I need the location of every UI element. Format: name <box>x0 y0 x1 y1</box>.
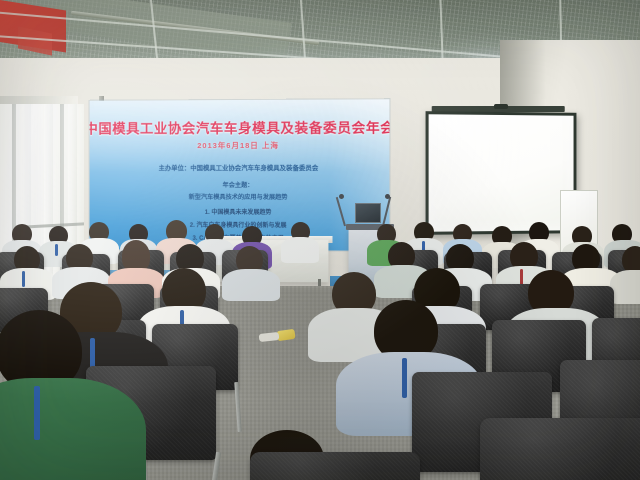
chair <box>250 452 420 480</box>
projection-screen-surface <box>429 114 574 231</box>
lanyard <box>22 271 25 287</box>
person-torso <box>222 269 280 301</box>
lanyard <box>34 386 40 440</box>
lanyard <box>55 244 58 256</box>
projection-screen-mount <box>494 104 508 109</box>
microphone-capsule <box>385 194 390 199</box>
banner-theme-label: 年会主题： <box>223 180 254 189</box>
conference-hall-photo: 中国模具工业协会汽车车身模具及装备委员会年会 2013年6月18日 上海 主办单… <box>0 0 640 480</box>
banner-theme-text: 新型汽车模具技术的应用与发展趋势 <box>189 192 288 201</box>
banner-date: 2013年6月18日 上海 <box>197 140 279 151</box>
person-torso <box>281 237 319 263</box>
person-torso <box>610 270 640 304</box>
microphone-capsule <box>339 194 344 199</box>
lanyard <box>402 358 407 398</box>
banner-agenda-item: 1. 中国模具未来发展趋势 <box>205 207 272 216</box>
banner-host-line: 主办单位：中国模具工业协会汽车车身模具及装备委员会 <box>159 163 319 172</box>
lectern-monitor <box>355 203 381 223</box>
banner-title: 中国模具工业协会汽车车身模具及装备委员会年会 <box>90 116 390 137</box>
chair <box>480 418 640 480</box>
projection-screen <box>426 111 577 235</box>
banner-agenda-item: 2. 汽车白车身模具行业的创新与发展 <box>190 220 287 229</box>
person-torso-green-polo <box>0 378 146 480</box>
